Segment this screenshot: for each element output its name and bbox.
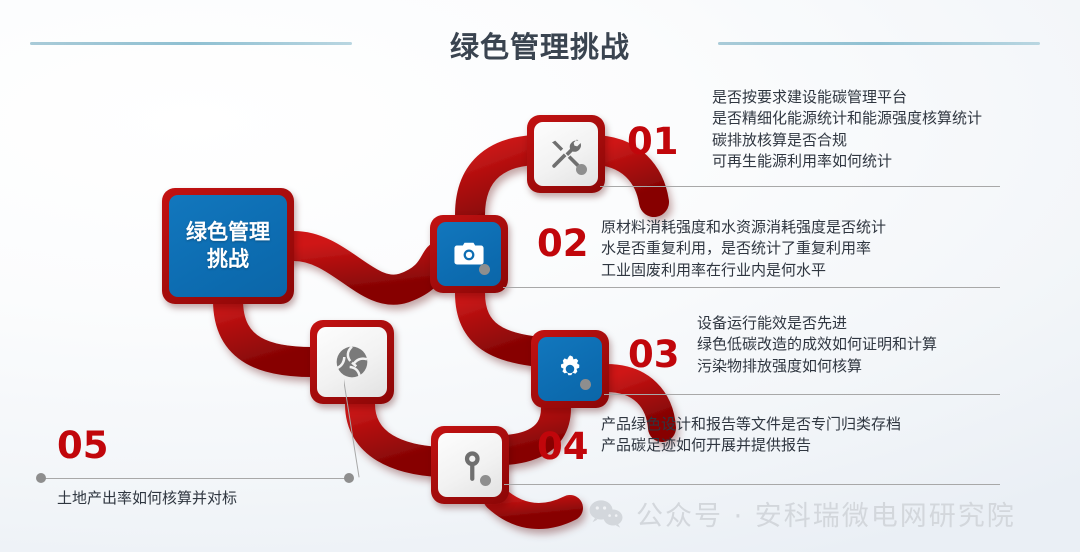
center-node-label-line2: 挑战: [207, 247, 249, 271]
item-01-number: 01: [627, 120, 679, 163]
item-05-text: 土地产出率如何核算并对标: [57, 488, 237, 509]
item-05-connector-line: [40, 478, 350, 479]
node-02-connector-dot: [479, 264, 490, 275]
node-inner: [538, 337, 602, 401]
node-03-connector-dot: [580, 379, 591, 390]
center-node-label-line1: 绿色管理: [186, 220, 270, 244]
item-01-connector-line: [600, 186, 1000, 187]
node-04-connector-dot: [480, 475, 491, 486]
item-04-line-2: 产品碳足迹如何开展并提供报告: [601, 435, 901, 456]
item-02-text: 原材料消耗强度和水资源消耗强度是否统计 水是否重复利用，是否统计了重复利用率 工…: [601, 217, 886, 281]
item-05-line-1: 土地产出率如何核算并对标: [57, 488, 237, 509]
item-04-connector-line: [504, 484, 1000, 485]
node-inner: 绿色管理 挑战: [169, 195, 287, 297]
item-03-line-3: 污染物排放强度如何核算: [697, 356, 937, 377]
item-04-text: 产品绿色设计和报告等文件是否专门归类存档 产品碳足迹如何开展并提供报告: [601, 414, 901, 457]
item-02-line-3: 工业固废利用率在行业内是何水平: [601, 260, 886, 281]
item-03-number: 03: [628, 333, 680, 376]
item-03-text: 设备运行能效是否先进 绿色低碳改造的成效如何证明和计算 污染物排放强度如何核算: [697, 313, 937, 377]
node-inner: [438, 433, 502, 497]
node-03-gear[interactable]: [531, 330, 609, 408]
item-03-line-2: 绿色低碳改造的成效如何证明和计算: [697, 334, 937, 355]
wechat-icon: [588, 499, 624, 529]
watermark: 公众号 · 安科瑞微电网研究院: [588, 494, 1016, 533]
item-03-line-1: 设备运行能效是否先进: [697, 313, 937, 334]
node-02-camera[interactable]: [430, 215, 508, 293]
node-inner: [534, 122, 598, 186]
item-01-line-1: 是否按要求建设能碳管理平台: [712, 87, 982, 108]
node-04-key[interactable]: [431, 426, 509, 504]
item-01-line-2: 是否精细化能源统计和能源强度核算统计: [712, 108, 982, 129]
item-01-line-3: 碳排放核算是否合规: [712, 130, 982, 151]
globe-icon: [332, 342, 372, 382]
item-02-line-1: 原材料消耗强度和水资源消耗强度是否统计: [601, 217, 886, 238]
item-02-connector-line: [503, 287, 1000, 288]
item-04-line-1: 产品绿色设计和报告等文件是否专门归类存档: [601, 414, 901, 435]
watermark-text: 公众号 · 安科瑞微电网研究院: [636, 494, 1016, 533]
item-03-connector-line: [604, 394, 1000, 395]
center-node-label: 绿色管理 挑战: [186, 219, 270, 273]
item-04-number: 04: [537, 425, 589, 468]
node-inner: [437, 222, 501, 286]
slide-canvas: 绿色管理挑战: [0, 0, 1080, 552]
item-02-line-2: 水是否重复利用，是否统计了重复利用率: [601, 238, 886, 259]
node-01-connector-dot: [576, 164, 587, 175]
item-05-number: 05: [57, 424, 109, 467]
item-02-number: 02: [537, 222, 589, 265]
item-05-dot-left: [36, 473, 46, 483]
node-01-tools[interactable]: [527, 115, 605, 193]
item-01-line-4: 可再生能源利用率如何统计: [712, 151, 982, 172]
item-01-text: 是否按要求建设能碳管理平台 是否精细化能源统计和能源强度核算统计 碳排放核算是否…: [712, 87, 982, 172]
center-node-green-management[interactable]: 绿色管理 挑战: [162, 188, 294, 304]
